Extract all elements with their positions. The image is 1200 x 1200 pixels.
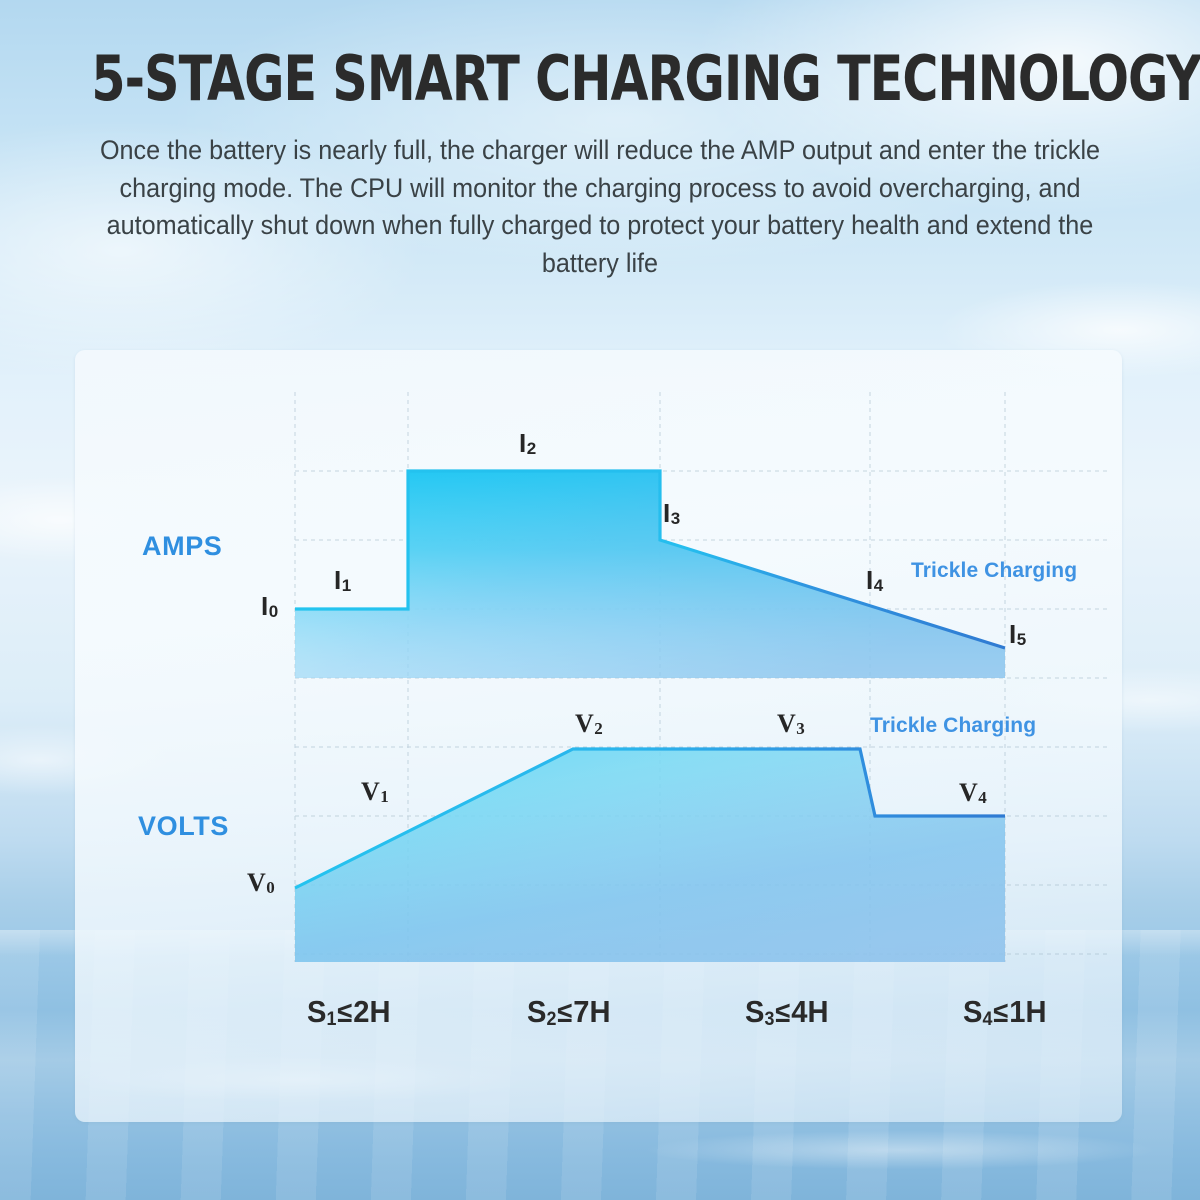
- page-subtitle: Once the battery is nearly full, the cha…: [30, 110, 1170, 283]
- stage-label-s2: S2≤7H: [527, 994, 610, 1030]
- stage-label-s4: S4≤1H: [963, 994, 1046, 1030]
- amps-curve-group: [295, 471, 1005, 678]
- volts-area-fill-deep: [295, 749, 1005, 962]
- volts-point-V3: V3: [777, 709, 804, 739]
- amps-area-fill-right: [295, 471, 1005, 678]
- amps-axis-label: AMPS: [142, 531, 222, 562]
- volts-point-V1: V1: [361, 777, 388, 807]
- stage-label-s1: S1≤2H: [307, 994, 390, 1030]
- trickle-charging-label-volts: Trickle Charging: [870, 714, 1036, 738]
- header: 5-STAGE SMART CHARGING TECHNOLOGY Once t…: [0, 0, 1200, 283]
- page-title: 5-STAGE SMART CHARGING TECHNOLOGY: [72, 0, 1128, 110]
- volts-point-V2: V2: [575, 709, 602, 739]
- volts-point-V0: V0: [247, 868, 274, 898]
- volts-axis-label: VOLTS: [138, 811, 229, 842]
- trickle-charging-label-amps: Trickle Charging: [911, 559, 1077, 583]
- volts-point-V4: V4: [959, 778, 986, 808]
- volts-curve-group: [295, 749, 1005, 962]
- amps-point-I3: I3: [663, 498, 680, 529]
- amps-point-I4: I4: [866, 565, 883, 596]
- amps-point-I1: I1: [334, 565, 351, 596]
- stage-label-s3: S3≤4H: [745, 994, 828, 1030]
- amps-point-I2: I2: [519, 428, 536, 459]
- amps-point-I0: I0: [261, 591, 278, 622]
- chart-panel: AMPS VOLTS Trickle Charging Trickle Char…: [75, 350, 1122, 1122]
- amps-point-I5: I5: [1009, 619, 1026, 650]
